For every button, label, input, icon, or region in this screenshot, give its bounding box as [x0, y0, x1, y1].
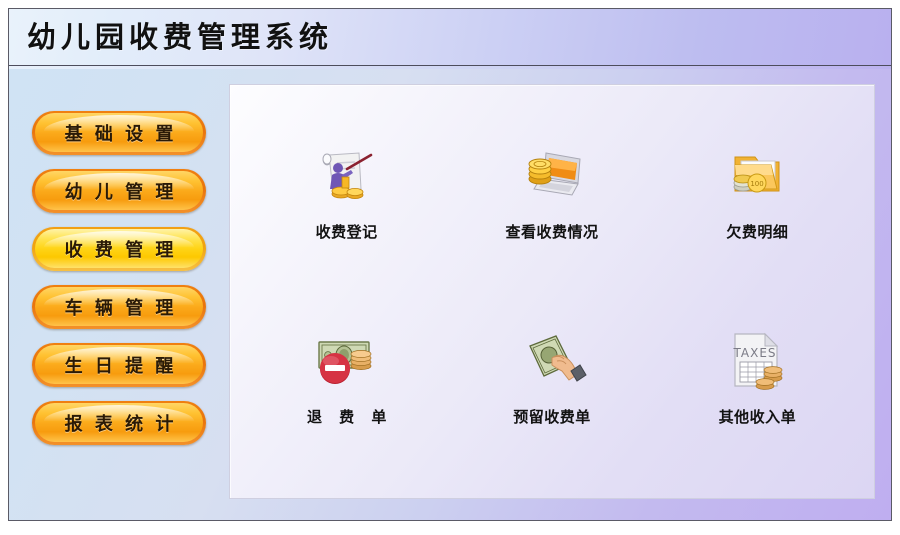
sidebar-item-fee-management[interactable]: 收 费 管 理 [32, 227, 206, 271]
tile-reserved-fee-form[interactable]: 预留收费单 [449, 296, 654, 481]
sidebar-item-label: 车 辆 管 理 [62, 294, 177, 320]
taxes-document-coins-icon: TAXES [721, 324, 793, 396]
tile-arrears-detail[interactable]: 100 欠费明细 [655, 111, 860, 296]
laptop-coins-icon [516, 139, 588, 211]
tile-other-income-form[interactable]: TAXES [655, 296, 860, 481]
svg-text:100: 100 [751, 180, 764, 188]
application-window: 幼儿园收费管理系统 基 础 设 置 幼 儿 管 理 收 费 管 理 车 辆 管 … [8, 8, 892, 521]
sidebar-item-child-management[interactable]: 幼 儿 管 理 [32, 169, 206, 213]
sidebar-item-label: 生 日 提 醒 [62, 352, 177, 378]
tile-label: 退 费 单 [301, 406, 392, 427]
hand-banknote-icon [516, 324, 588, 396]
tile-view-fee-status[interactable]: 查看收费情况 [449, 111, 654, 296]
icon-grid: 收费登记 [230, 85, 874, 498]
tile-fee-registration[interactable]: 收费登记 [244, 111, 449, 296]
person-scroll-coins-icon [311, 139, 383, 211]
tile-label: 欠费明细 [726, 221, 788, 242]
sidebar-item-birthday-reminder[interactable]: 生 日 提 醒 [32, 343, 206, 387]
sidebar-item-report-statistics[interactable]: 报 表 统 计 [32, 401, 206, 445]
content-panel: 收费登记 [229, 84, 875, 499]
sidebar-item-vehicle-management[interactable]: 车 辆 管 理 [32, 285, 206, 329]
title-bar: 幼儿园收费管理系统 [9, 9, 891, 66]
tile-label: 查看收费情况 [505, 221, 598, 242]
tile-refund-form[interactable]: 退 费 单 [244, 296, 449, 481]
tile-label: 收费登记 [316, 221, 378, 242]
window-body: 基 础 设 置 幼 儿 管 理 收 费 管 理 车 辆 管 理 生 日 提 醒 … [9, 67, 891, 520]
sidebar-item-label: 幼 儿 管 理 [62, 178, 177, 204]
sidebar: 基 础 设 置 幼 儿 管 理 收 费 管 理 车 辆 管 理 生 日 提 醒 … [9, 67, 229, 520]
sidebar-item-label: 报 表 统 计 [62, 410, 177, 436]
folder-coins-icon: 100 [721, 139, 793, 211]
sidebar-item-label: 收 费 管 理 [62, 236, 177, 262]
page-title: 幼儿园收费管理系统 [27, 23, 333, 52]
svg-text:TAXES: TAXES [733, 346, 777, 360]
banknote-minus-icon [311, 324, 383, 396]
sidebar-item-basic-settings[interactable]: 基 础 设 置 [32, 111, 206, 155]
tile-label: 其他收入单 [719, 406, 797, 427]
sidebar-item-label: 基 础 设 置 [62, 120, 177, 146]
tile-label: 预留收费单 [513, 406, 591, 427]
